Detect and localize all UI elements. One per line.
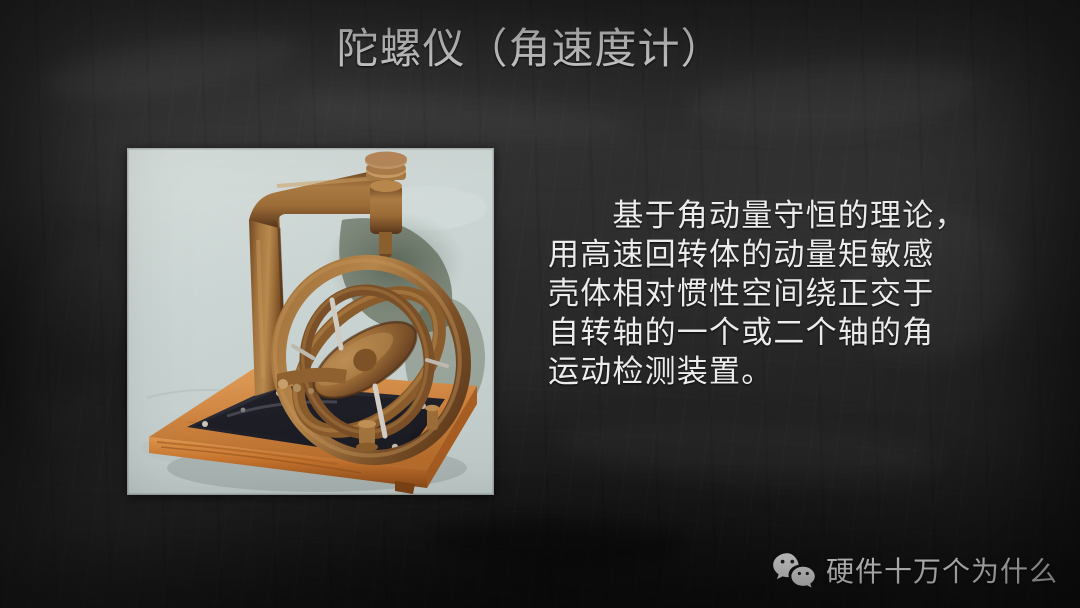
body-paragraph: 基于角动量守恒的理论， 用高速回转体的动量矩敏感 壳体相对惯性空间绕正交于 自转…	[548, 196, 932, 391]
body-line-4: 自转轴的一个或二个轴的角	[548, 313, 932, 352]
gyroscope-photo	[127, 148, 494, 495]
slide-title: 陀螺仪（角速度计）	[0, 26, 1060, 76]
body-line-1: 基于角动量守恒的理论，	[548, 196, 932, 235]
wechat-icon	[772, 552, 816, 588]
brand-name-label: 硬件十万个为什么	[826, 550, 1058, 590]
body-line-3: 壳体相对惯性空间绕正交于	[548, 274, 932, 313]
footer-brand: 硬件十万个为什么	[772, 550, 1058, 590]
body-line-5: 运动检测装置。	[548, 352, 932, 391]
gyroscope-illustration	[127, 148, 494, 495]
slide-canvas: 陀螺仪（角速度计）	[0, 0, 1080, 608]
body-line-2: 用高速回转体的动量矩敏感	[548, 235, 932, 274]
